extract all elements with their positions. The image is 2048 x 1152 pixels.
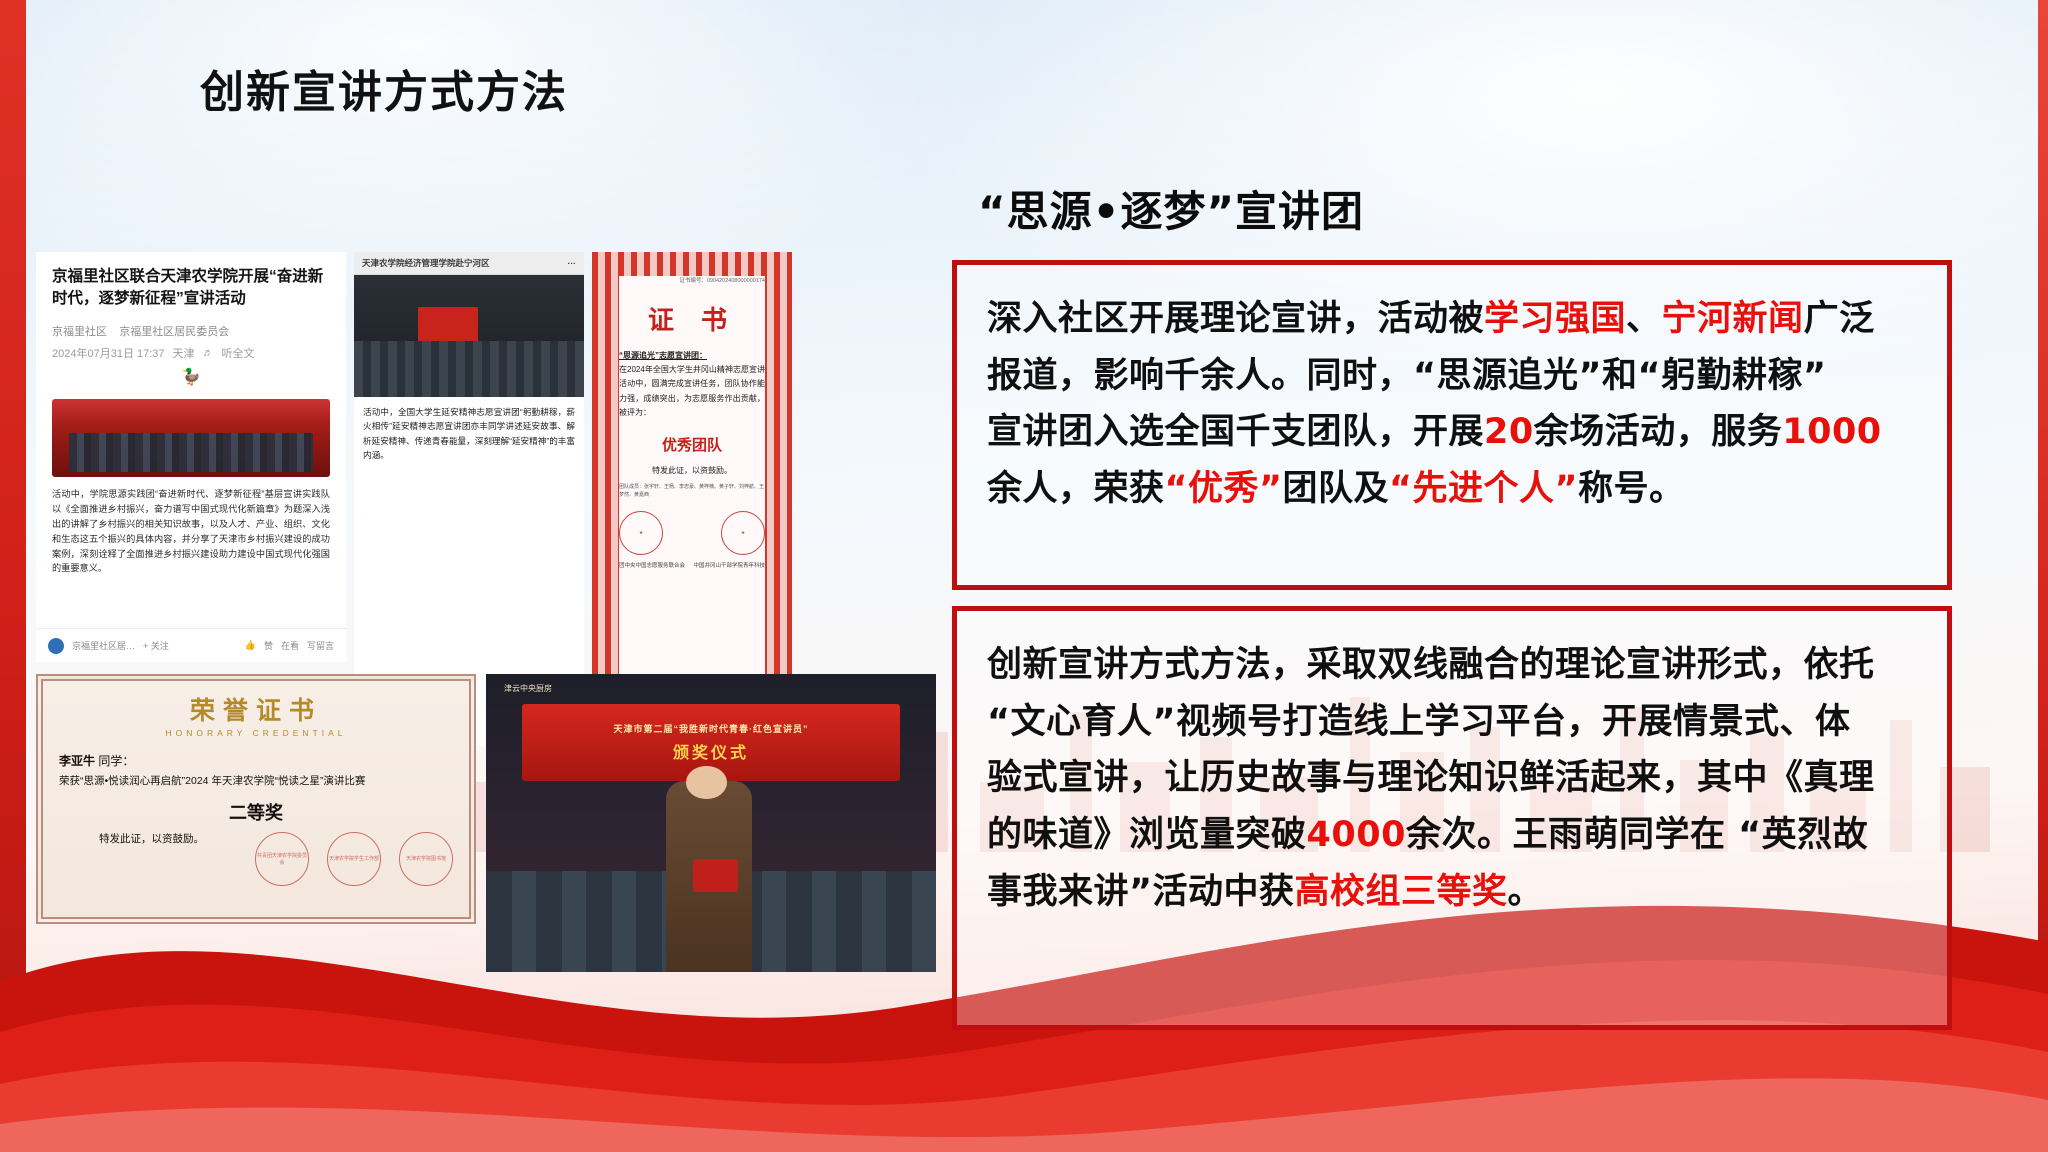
plain-text: 余人，荣获: [987, 469, 1165, 509]
plain-text: 。: [1508, 872, 1544, 912]
wechat-article-card: 天津农学院经济管理学院赴宁河区 ··· 活动中，全国大学生延安精神志愿宣讲团“躬…: [354, 252, 584, 746]
plain-text: 的味道》浏览量突破: [987, 815, 1307, 855]
news-source-line: 京福里社区 京福里社区居民委员会: [52, 323, 330, 339]
certificate-body: 在2024年全国大学生井冈山精神志愿宣讲活动中，圆满完成宣讲任务，团队协作能力强…: [619, 363, 765, 420]
more-icon[interactable]: ···: [568, 258, 577, 268]
news-footer: 京福里社区居… + 关注 👍 赞 在看 写留言: [36, 628, 346, 662]
news-photo: [52, 399, 330, 477]
news-footer-account: 京福里社区居…: [72, 639, 135, 652]
page-title: 创新宣讲方式方法: [200, 56, 568, 120]
thumb-up-icon[interactable]: 👍: [245, 640, 256, 651]
certificate-footer-right: 中国井冈山干部学院青年科技: [693, 561, 765, 569]
news-action-comment[interactable]: 写留言: [307, 639, 334, 652]
certificate-members: 团队成员：张宇轩、王杨、李忠豪、黄梓楠、黄子轩、刘梓航、王梦然、黄嘉西: [619, 484, 765, 499]
news-article-card: 京福里社区联合天津农学院开展“奋进新时代，逐梦新征程”宣讲活动 京福里社区 京福…: [36, 252, 346, 662]
news-listen-link[interactable]: 听全文: [222, 345, 255, 361]
plain-text: “文心育人”视频号打造线上学习平台，开展情景式、体: [987, 702, 1851, 742]
left-red-bar: [0, 0, 26, 1152]
slide-canvas: 创新宣讲方式方法 “思源•逐梦”宣讲团 深入社区开展理论宣讲，活动被学习强国、宁…: [0, 0, 2048, 1152]
recipient-head: [686, 766, 727, 799]
news-publisher: 京福里社区居民委员会: [119, 326, 229, 338]
wechat-bar-title: 天津农学院经济管理学院赴宁河区: [362, 257, 490, 269]
wechat-hero-photo: [354, 275, 584, 397]
stamp-icon: ★: [721, 511, 765, 555]
text-line: 事我来讲”活动中获高校组三等奖。: [987, 864, 1917, 921]
news-meta-line: 2024年07月31日 17:37 天津 ♬ 听全文: [52, 345, 330, 361]
highlighted-text: 20: [1484, 412, 1534, 452]
highlighted-text: 4000: [1307, 815, 1406, 855]
credential-name-suffix: 同学：: [98, 754, 134, 768]
plain-text: 事我来讲”活动中获: [987, 872, 1295, 912]
highlighted-text: “先进个人”: [1389, 469, 1578, 509]
credential-name-line: 李亚牛 同学：: [59, 752, 453, 769]
right-red-edge: [2038, 0, 2048, 1152]
text-line: 宣讲团入选全国千支团队，开展20余场活动，服务1000: [987, 404, 1917, 461]
text-line: “文心育人”视频号打造线上学习平台，开展情景式、体: [987, 694, 1917, 751]
highlighted-text: 学习强国: [1484, 299, 1626, 339]
channel-logo: 津云中央厨房: [504, 683, 552, 694]
news-follow-button[interactable]: + 关注: [143, 639, 169, 652]
credential-body: 荣获“思源•悦读润心再启航”2024 年天津农学院“悦读之星”演讲比赛: [59, 773, 453, 791]
text-line: 创新宣讲方式方法，采取双线融合的理论宣讲形式，依托: [987, 637, 1917, 694]
text-line: 余人，荣获“优秀”团队及“先进个人”称号。: [987, 461, 1917, 518]
text-line: 的味道》浏览量突破4000余次。王雨萌同学在 “英烈故: [987, 807, 1917, 864]
text-line: 深入社区开展理论宣讲，活动被学习强国、宁河新闻广泛: [987, 291, 1917, 348]
banner-line-2: 颁奖仪式: [673, 739, 749, 763]
plain-text: 报道，影响千余人。同时，“思源追光”和“躬勤耕稼”: [987, 356, 1827, 396]
award-ceremony-photo: 津云中央厨房 天津市第二届“我胜新时代青春·红色宣讲员” 颁奖仪式: [486, 674, 936, 972]
certificate-footer-left: 团中央中国志愿服务联合会: [619, 561, 685, 569]
wechat-title-bar: 天津农学院经济管理学院赴宁河区 ···: [354, 252, 584, 275]
highlighted-text: 宁河新闻: [1662, 299, 1804, 339]
news-action-wow[interactable]: 在看: [281, 639, 299, 652]
avatar: [48, 638, 64, 654]
certificate-award: 优秀团队: [619, 434, 765, 455]
certificate-stamps: ★ ★: [619, 511, 765, 555]
news-source: 京福里社区: [52, 326, 107, 338]
credential-subtitle: HONORARY CREDENTIAL: [59, 728, 453, 738]
audience-rows: [354, 341, 584, 397]
plain-text: 余场活动，服务: [1534, 412, 1783, 452]
image-collage: 京福里社区联合天津农学院开展“奋进新时代，逐梦新征程”宣讲活动 京福里社区 京福…: [36, 252, 936, 972]
stamp-icon: 天津农学院图书馆: [399, 832, 453, 886]
highlighted-text: “优秀”: [1165, 469, 1283, 509]
certificate-number: 证书编号：0904202408000000174: [619, 276, 765, 284]
text-line: 报道，影响千余人。同时，“思源追光”和“躬勤耕稼”: [987, 348, 1917, 405]
stamp-icon: ★: [619, 511, 663, 555]
credential-title: 荣誉证书: [59, 691, 453, 727]
red-certificate-book: [693, 859, 738, 892]
banner-line-1: 天津市第二届“我胜新时代青春·红色宣讲员”: [614, 722, 809, 735]
highlighted-text: 高校组三等奖: [1295, 872, 1508, 912]
plain-text: 验式宣讲，让历史故事与理论知识鲜活起来，其中《真理: [987, 758, 1875, 798]
news-headline: 京福里社区联合天津农学院开展“奋进新时代，逐梦新征程”宣讲活动: [52, 266, 330, 311]
certificate-team-label: “思源追光”志愿宣讲团：: [619, 349, 765, 363]
stamp-icon: 共青团天津农学院委员会: [255, 832, 309, 886]
plain-text: 称号。: [1578, 469, 1685, 509]
plain-text: 深入社区开展理论宣讲，活动被: [987, 299, 1484, 339]
volunteer-certificate: 证书编号：0904202408000000174 证 书 “思源追光”志愿宣讲团…: [592, 252, 792, 746]
highlighted-text: 1000: [1782, 412, 1881, 452]
news-body: 活动中，学院思源实践团“奋进新时代、逐梦新征程”基层宣讲实践队以《全面推进乡村振…: [52, 487, 330, 576]
news-action-like[interactable]: 赞: [264, 639, 273, 652]
plain-text: 余次。王雨萌同学在 “英烈故: [1406, 815, 1868, 855]
headphone-icon: ♬: [203, 347, 214, 359]
certificate-footer: 团中央中国志愿服务联合会 中国井冈山干部学院青年科技: [619, 561, 765, 569]
wechat-body: 活动中，全国大学生延安精神志愿宣讲团“躬勤耕稼，薪火相传”延安精神志愿宣讲团亦丰…: [354, 397, 584, 471]
certificate-note: 特发此证，以资鼓励。: [619, 465, 765, 476]
duck-emoji-icon: 🦆: [52, 367, 330, 393]
honorary-credential: 荣誉证书 HONORARY CREDENTIAL 李亚牛 同学： 荣获“思源•悦…: [36, 674, 476, 924]
plain-text: 、: [1626, 299, 1662, 339]
plain-text: 团队及: [1283, 469, 1390, 509]
text-line: 验式宣讲，让历史故事与理论知识鲜活起来，其中《真理: [987, 750, 1917, 807]
section-heading: “思源•逐梦”宣讲团: [978, 178, 1364, 239]
plain-text: 宣讲团入选全国千支团队，开展: [987, 412, 1484, 452]
text-box-propaganda-team: 深入社区开展理论宣讲，活动被学习强国、宁河新闻广泛 报道，影响千余人。同时，“思…: [952, 260, 1952, 590]
news-date: 2024年07月31日 17:37: [52, 345, 165, 361]
news-location: 天津: [173, 345, 195, 361]
plain-text: 创新宣讲方式方法，采取双线融合的理论宣讲形式，依托: [987, 645, 1875, 685]
certificate-title: 证 书: [619, 300, 765, 337]
credential-award: 二等奖: [59, 799, 453, 825]
credential-name: 李亚牛: [59, 754, 95, 768]
text-box-innovative-methods: 创新宣讲方式方法，采取双线融合的理论宣讲形式，依托 “文心育人”视频号打造线上学…: [952, 606, 1952, 1030]
stamp-icon: 天津农学院学生工作部: [327, 832, 381, 886]
plain-text: 广泛: [1804, 299, 1875, 339]
